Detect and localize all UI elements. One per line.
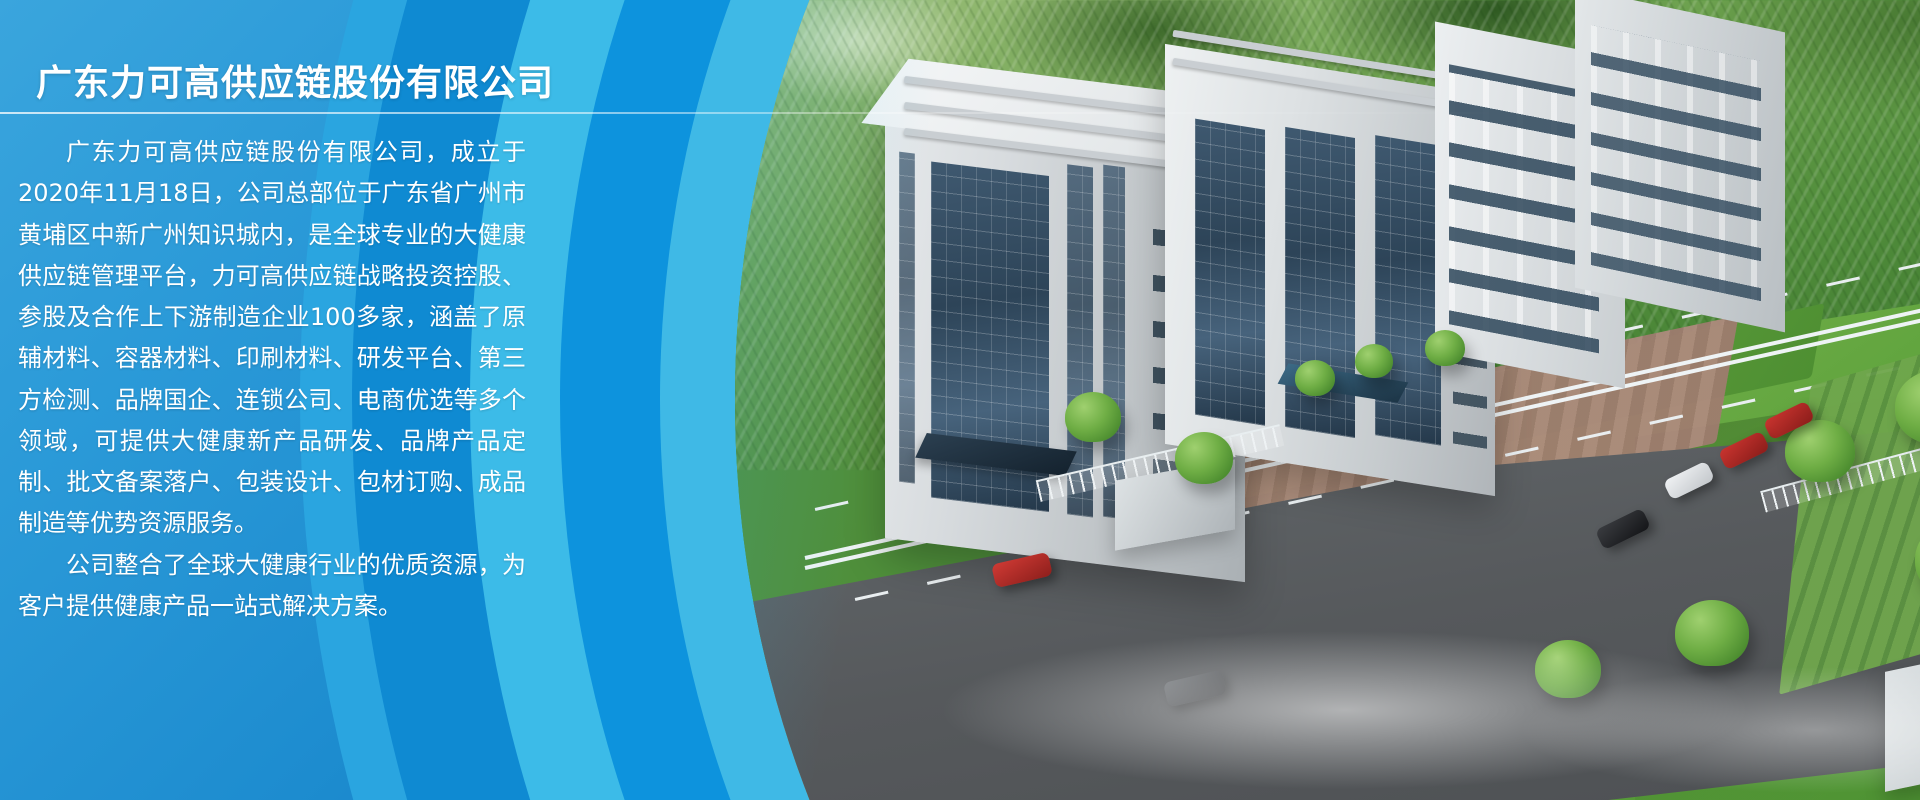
street-tree-4 xyxy=(1355,344,1393,378)
description-paragraph-2: 公司整合了全球大健康行业的优质资源，为客户提供健康产品一站式解决方案。 xyxy=(18,545,526,628)
block2-curtain-wall-1 xyxy=(1195,119,1265,426)
facility-photo-image xyxy=(735,0,1920,800)
banner-root: 广东力可高供应链股份有限公司 广东力可高供应链股份有限公司，成立于2020年11… xyxy=(0,0,1920,800)
street-tree-1 xyxy=(1065,392,1121,442)
facility-photo xyxy=(735,0,1920,800)
description-paragraph-1: 广东力可高供应链股份有限公司，成立于2020年11月18日，公司总部位于广东省广… xyxy=(18,132,526,545)
title-divider xyxy=(0,112,1920,114)
park-tree-1 xyxy=(1785,420,1855,482)
block4-windows xyxy=(1591,25,1761,301)
street-tree-2 xyxy=(1175,432,1233,484)
office-block-4 xyxy=(1575,0,1785,332)
atmospheric-haze xyxy=(915,610,1920,800)
street-tree-5 xyxy=(1425,330,1465,366)
page-title: 广东力可高供应链股份有限公司 xyxy=(36,54,554,106)
tower-window-band-3 xyxy=(899,152,915,484)
street-tree-3 xyxy=(1295,360,1335,396)
company-description: 广东力可高供应链股份有限公司，成立于2020年11月18日，公司总部位于广东省广… xyxy=(18,132,526,627)
tower-window-band-1 xyxy=(1067,164,1093,517)
text-panel: 广东力可高供应链股份有限公司 广东力可高供应链股份有限公司，成立于2020年11… xyxy=(0,0,640,800)
